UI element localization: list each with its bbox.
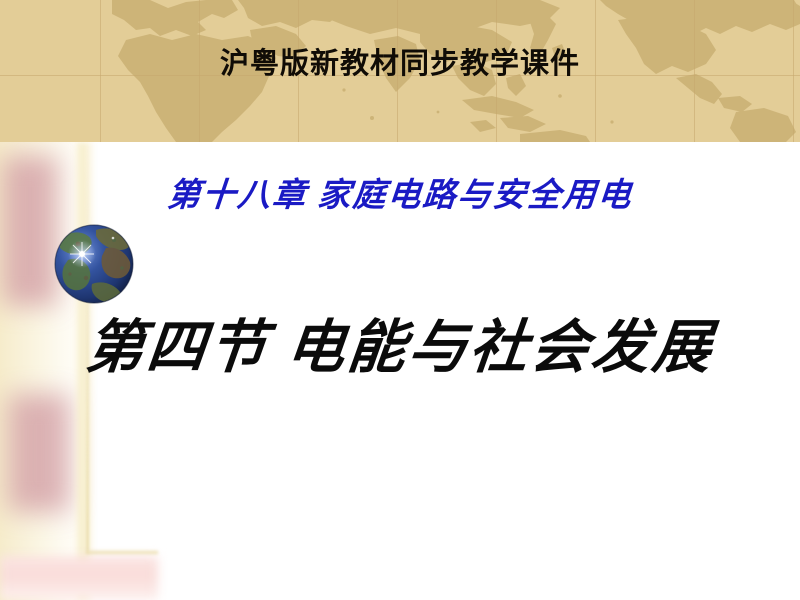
decor-bottom-pink-block — [0, 556, 158, 600]
globe-earth-icon — [52, 222, 136, 306]
header-band: 沪粤版新教材同步教学课件 — [0, 0, 800, 142]
decor-horizontal-rule — [86, 551, 158, 554]
presentation-slide: 沪粤版新教材同步教学课件 — [0, 0, 800, 600]
chapter-heading: 第十八章 家庭电路与安全用电 — [0, 176, 800, 216]
header-title: 沪粤版新教材同步教学课件 — [0, 44, 800, 84]
decor-blob-lower — [8, 394, 70, 512]
section-heading: 第四节 电能与社会发展 — [0, 310, 800, 386]
